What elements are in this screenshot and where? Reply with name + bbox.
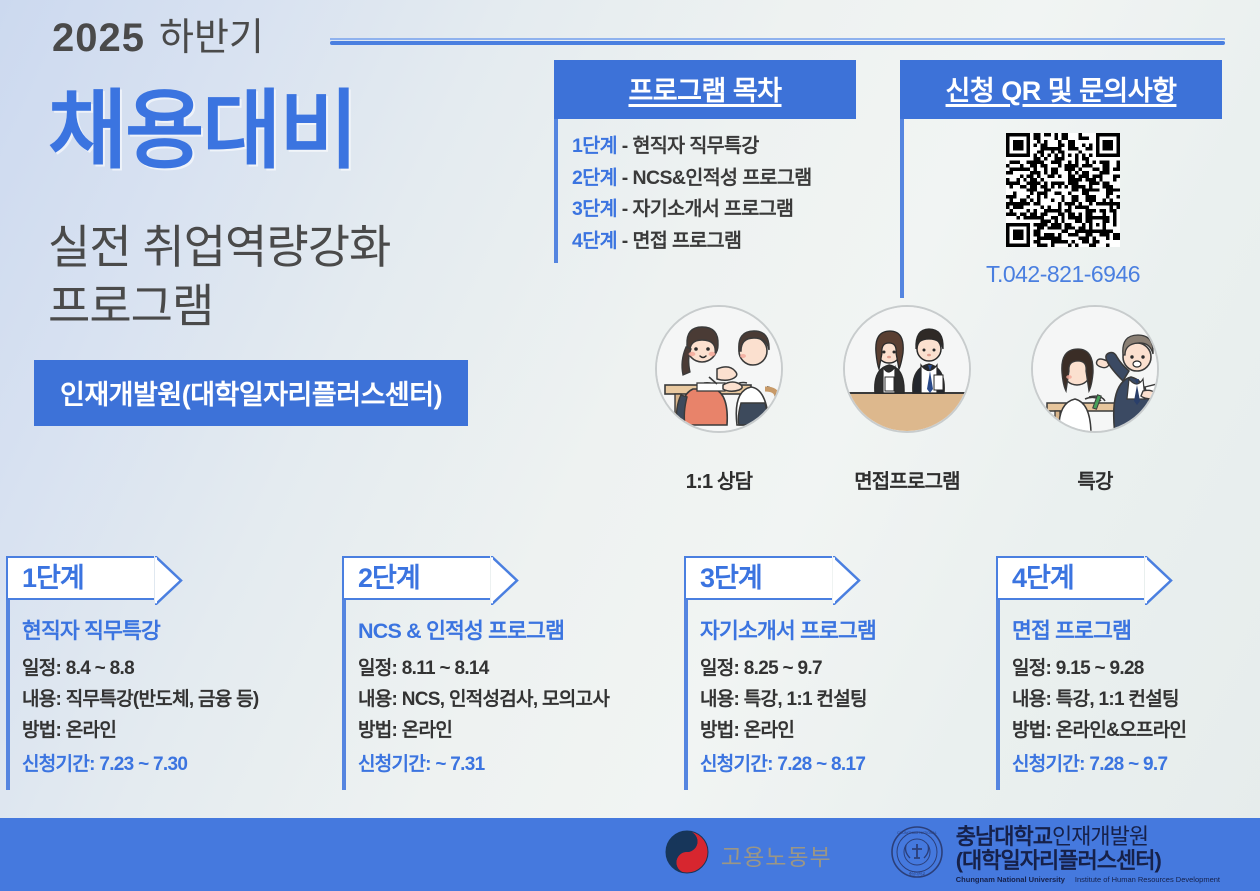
stage-apply-period: 신청기간: 7.23 ~ 7.30 [22, 749, 306, 776]
cnu-line3-english: Chungnam National UniversityInstitute of… [956, 876, 1220, 884]
qr-panel-body: T.042-821-6946 [900, 119, 1222, 298]
stage-apply-period: 신청기간: 7.28 ~ 9.7 [1012, 749, 1260, 776]
program-toc-heading: 프로그램 목차 [554, 60, 856, 119]
toc-item-dash: - [622, 135, 628, 157]
toc-item: 3단계 - 자기소개서 프로그램 [572, 194, 856, 226]
cnu-text-block: 충남대학교인재개발원 (대학일자리플러스센터) Chungnam Nationa… [956, 825, 1220, 885]
toc-item: 1단계 - 현직자 직무특강 [572, 131, 856, 163]
toc-item-label: 자기소개서 프로그램 [633, 198, 794, 220]
program-toc-panel: 프로그램 목차 1단계 - 현직자 직무특강 2단계 - NCS&인적성 프로그… [554, 60, 856, 263]
stage-body: 자기소개서 프로그램 일정: 8.25 ~ 9.7 내용: 특강, 1:1 컨설… [684, 600, 984, 790]
illustration-cell: 면접프로그램 [843, 305, 971, 494]
illustration-label: 특강 [1031, 465, 1159, 494]
stage-body: 현직자 직무특강 일정: 8.4 ~ 8.8 내용: 직무특강(반도체, 금융 … [6, 600, 306, 790]
stage-apply-period: 신청기간: 7.28 ~ 8.17 [700, 749, 984, 776]
stage-tag-label: 1단계 [22, 565, 84, 592]
toc-item: 4단계 - 면접 프로그램 [572, 226, 856, 258]
cnu-hrd-logo: CHUNGNAM NATIONAL 충남대학교 충남대학교인재개발원 (대학일자… [890, 825, 1220, 885]
stage-content: 내용: NCS, 인적성검사, 모의고사 [358, 685, 642, 716]
toc-item-step: 1단계 [572, 135, 617, 157]
stage-tag-label: 3단계 [700, 565, 762, 592]
cnu-univ-name: 충남대학교 [956, 824, 1052, 849]
illustration-cell: 1:1 상담 [655, 305, 783, 494]
cnu-en-university: Chungnam National University [956, 875, 1065, 884]
stage-tag-label: 4단계 [1012, 565, 1074, 592]
toc-item-label: 면접 프로그램 [633, 230, 742, 252]
toc-item-step: 4단계 [572, 230, 617, 252]
stage-title: 자기소개서 프로그램 [700, 614, 984, 645]
qr-code-icon[interactable] [1006, 133, 1120, 247]
stage-tag: 4단계 [996, 556, 1144, 600]
program-toc-list: 1단계 - 현직자 직무특강 2단계 - NCS&인적성 프로그램 3단계 - … [554, 119, 856, 263]
stage-card-3: 3단계 자기소개서 프로그램 일정: 8.25 ~ 9.7 내용: 특강, 1:… [684, 556, 984, 790]
stage-card-4: 4단계 면접 프로그램 일정: 9.15 ~ 9.28 내용: 특강, 1:1 … [996, 556, 1260, 790]
stage-title: 현직자 직무특강 [22, 614, 306, 645]
stage-title: 면접 프로그램 [1012, 614, 1260, 645]
header-divider-line [330, 41, 1225, 45]
stage-cards-row: 1단계 현직자 직무특강 일정: 8.4 ~ 8.8 내용: 직무특강(반도체,… [0, 556, 1260, 806]
stage-title: NCS & 인적성 프로그램 [358, 614, 642, 645]
stage-tag: 3단계 [684, 556, 832, 600]
qr-contact-panel: 신청 QR 및 문의사항 T.042-821-6946 [900, 60, 1222, 298]
qr-panel-heading: 신청 QR 및 문의사항 [900, 60, 1222, 119]
stage-body: 면접 프로그램 일정: 9.15 ~ 9.28 내용: 특강, 1:1 컨설팅 … [996, 600, 1260, 790]
poster-canvas: 2025 하반기 채용대비 실전 취업역량강화 프로그램 인재개발원(대학일자리… [0, 0, 1260, 891]
page-title: 채용대비 [48, 88, 356, 174]
year-heading: 2025 하반기 [52, 18, 264, 58]
year-half-label: 하반기 [159, 19, 264, 57]
illustration-label: 면접프로그램 [843, 465, 971, 494]
illustration-label: 1:1 상담 [655, 465, 783, 494]
stage-tag: 1단계 [6, 556, 154, 600]
taegeuk-icon [664, 829, 710, 880]
cnu-institute-name: 인재개발원 [1052, 824, 1148, 849]
page-subtitle-line1: 실전 취업역량강화 [48, 218, 390, 277]
toc-item: 2단계 - NCS&인적성 프로그램 [572, 163, 856, 195]
stage-body: NCS & 인적성 프로그램 일정: 8.11 ~ 8.14 내용: NCS, … [342, 600, 642, 790]
stage-schedule: 일정: 8.4 ~ 8.8 [22, 654, 306, 685]
ministry-of-employment-logo: 고용노동부 [664, 829, 832, 880]
toc-item-dash: - [622, 167, 628, 189]
stage-content: 내용: 특강, 1:1 컨설팅 [700, 685, 984, 716]
toc-item-dash: - [622, 198, 628, 220]
stage-method: 방법: 온라인&오프라인 [1012, 716, 1260, 747]
toc-item-step: 2단계 [572, 167, 617, 189]
stage-method: 방법: 온라인 [700, 716, 984, 747]
illustration-cell: 특강 [1031, 305, 1159, 494]
stage-apply-period: 신청기간: ~ 7.31 [358, 749, 642, 776]
stage-method: 방법: 온라인 [358, 716, 642, 747]
cnu-line1: 충남대학교인재개발원 [956, 824, 1148, 849]
interview-panel-illustration [843, 305, 971, 433]
stage-tag: 2단계 [342, 556, 490, 600]
stage-schedule: 일정: 8.25 ~ 9.7 [700, 654, 984, 685]
department-badge: 인재개발원(대학일자리플러스센터) [34, 360, 468, 426]
stage-method: 방법: 온라인 [22, 716, 306, 747]
ministry-label: 고용노동부 [721, 838, 832, 872]
contact-phone-number: T.042-821-6946 [986, 261, 1140, 288]
footer-bar: 고용노동부 CHUNGNAM NATIONAL 충남대학교 충남대학교인재개발원… [0, 818, 1260, 891]
cnu-en-institute: Institute of Human Resources Development [1075, 875, 1220, 884]
stage-schedule: 일정: 8.11 ~ 8.14 [358, 654, 642, 685]
stage-card-1: 1단계 현직자 직무특강 일정: 8.4 ~ 8.8 내용: 직무특강(반도체,… [6, 556, 306, 790]
lecture-illustration [1031, 305, 1159, 433]
toc-item-dash: - [622, 230, 628, 252]
counseling-illustration [655, 305, 783, 433]
cnu-seal-icon: CHUNGNAM NATIONAL 충남대학교 [890, 825, 944, 884]
page-subtitle: 실전 취업역량강화 프로그램 [48, 218, 390, 336]
stage-card-2: 2단계 NCS & 인적성 프로그램 일정: 8.11 ~ 8.14 내용: N… [342, 556, 642, 790]
toc-item-label: NCS&인적성 프로그램 [633, 167, 812, 189]
stage-tag-label: 2단계 [358, 565, 420, 592]
stage-content: 내용: 직무특강(반도체, 금융 등) [22, 685, 306, 716]
page-subtitle-line2: 프로그램 [48, 277, 390, 336]
illustration-row: 1:1 상담 [655, 305, 1159, 494]
svg-text:CHUNGNAM NATIONAL: CHUNGNAM NATIONAL [897, 831, 937, 835]
cnu-line2: (대학일자리플러스센터) [956, 849, 1220, 874]
toc-item-step: 3단계 [572, 198, 617, 220]
stage-content: 내용: 특강, 1:1 컨설팅 [1012, 685, 1260, 716]
svg-text:충남대학교: 충남대학교 [908, 871, 925, 876]
year-number: 2025 [52, 18, 145, 58]
toc-item-label: 현직자 직무특강 [633, 135, 759, 157]
stage-schedule: 일정: 9.15 ~ 9.28 [1012, 654, 1260, 685]
